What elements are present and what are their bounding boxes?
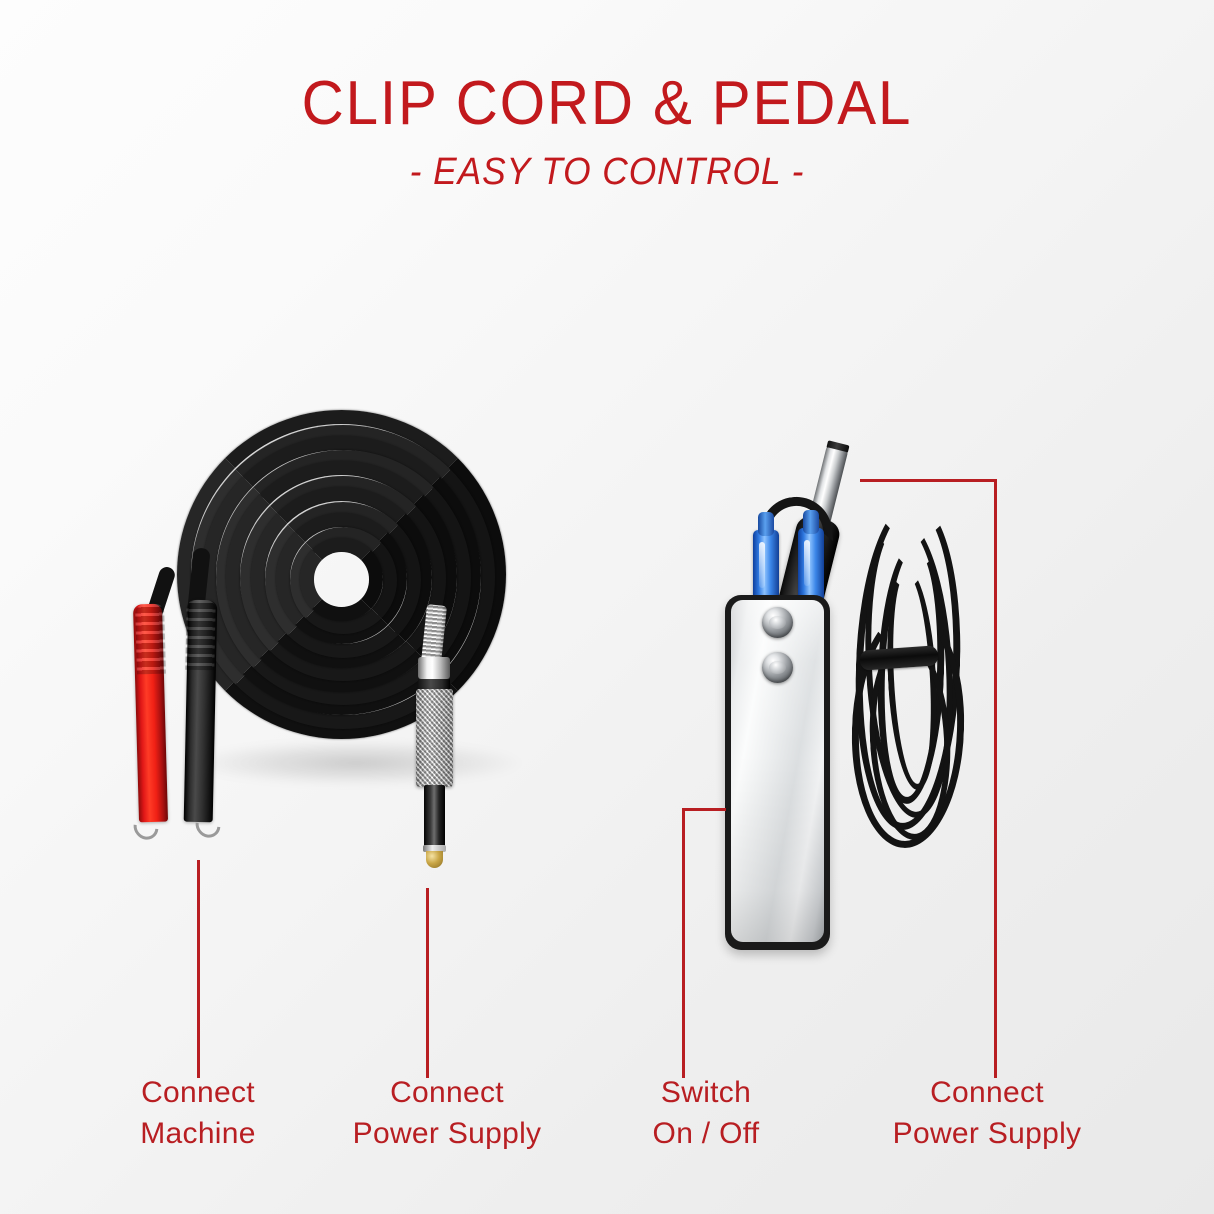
spade-highlight — [804, 540, 810, 586]
black-clip-lead-grip — [185, 600, 215, 671]
leader-line-connect-machine — [197, 860, 200, 1078]
cable-coil-ring — [300, 538, 382, 620]
plug-spring-relief — [421, 604, 447, 664]
leader-line-switch-vertical — [682, 808, 685, 1078]
callout-connect-power-supply-cord: Connect Power Supply — [353, 1073, 542, 1154]
foot-pedal-product — [620, 0, 1214, 1000]
screw-terminal-bottom — [762, 652, 793, 683]
blue-spade-connector-left — [753, 530, 779, 602]
callout-line-1: Connect — [390, 1076, 504, 1109]
clip-cord-product — [0, 0, 620, 900]
leader-line-switch-horizontal — [682, 808, 726, 811]
plug-knurled-barrel — [416, 689, 453, 787]
leader-line-connect-power-supply-pedal-vertical — [994, 479, 997, 1078]
callout-line-2: Power Supply — [893, 1114, 1082, 1155]
callout-line-1: Connect — [930, 1076, 1044, 1109]
blue-spade-connector-right — [798, 528, 824, 600]
chrome-phono-plug — [406, 605, 464, 867]
spade-highlight — [759, 542, 765, 588]
callout-line-1: Switch — [661, 1076, 751, 1109]
callout-line-2: Power Supply — [353, 1114, 542, 1155]
callout-switch-on-off: Switch On / Off — [653, 1073, 760, 1154]
plug-collar — [418, 657, 450, 679]
callout-line-2: Machine — [140, 1114, 256, 1155]
coiled-black-cable — [178, 411, 535, 768]
callout-line-2: On / Off — [653, 1114, 760, 1155]
screw-terminal-top — [762, 607, 793, 638]
product-infographic: CLIP CORD & PEDAL - EASY TO CONTROL - — [0, 0, 1214, 1214]
callout-connect-machine: Connect Machine — [140, 1073, 256, 1154]
plug-black-band — [418, 679, 450, 689]
callout-line-1: Connect — [141, 1076, 255, 1109]
leader-line-connect-power-supply-cord — [426, 888, 429, 1078]
leader-line-connect-power-supply-pedal-horizontal — [860, 479, 997, 482]
plug-shaft — [424, 785, 445, 847]
red-clip-lead-grip — [135, 604, 166, 675]
plug-brass-tip — [426, 851, 443, 868]
callout-connect-power-supply-pedal: Connect Power Supply — [893, 1073, 1082, 1154]
